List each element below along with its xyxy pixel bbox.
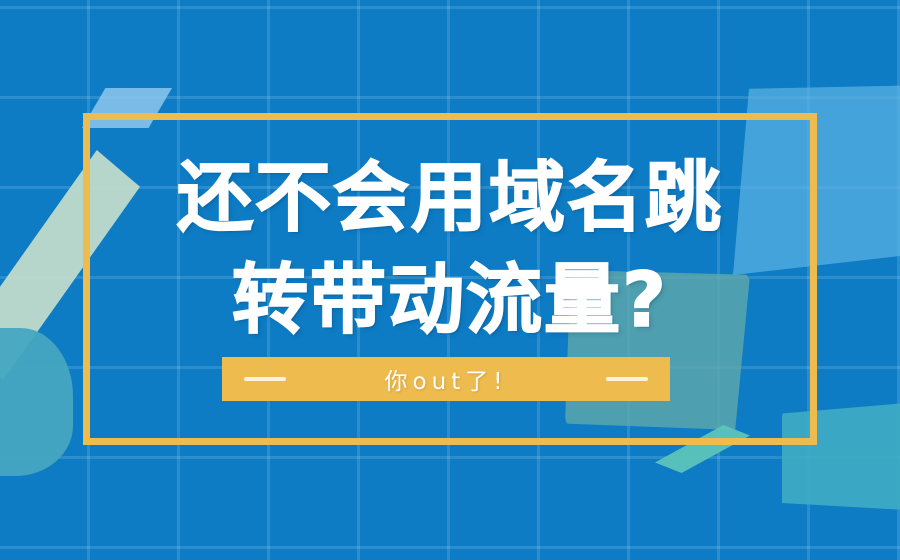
headline-line-1: 还不会用域名跳 xyxy=(0,148,900,248)
subtitle-text: 你out了! xyxy=(385,362,508,396)
dash-left-icon xyxy=(244,377,286,381)
poster-banner: 还不会用域名跳 转带动流量? 你out了! xyxy=(0,0,900,560)
subtitle-banner: 你out了! xyxy=(222,357,670,401)
poster-content: 还不会用域名跳 转带动流量? 你out了! xyxy=(0,0,900,560)
headline-line-2: 转带动流量? xyxy=(0,250,900,350)
dash-right-icon xyxy=(606,377,648,381)
